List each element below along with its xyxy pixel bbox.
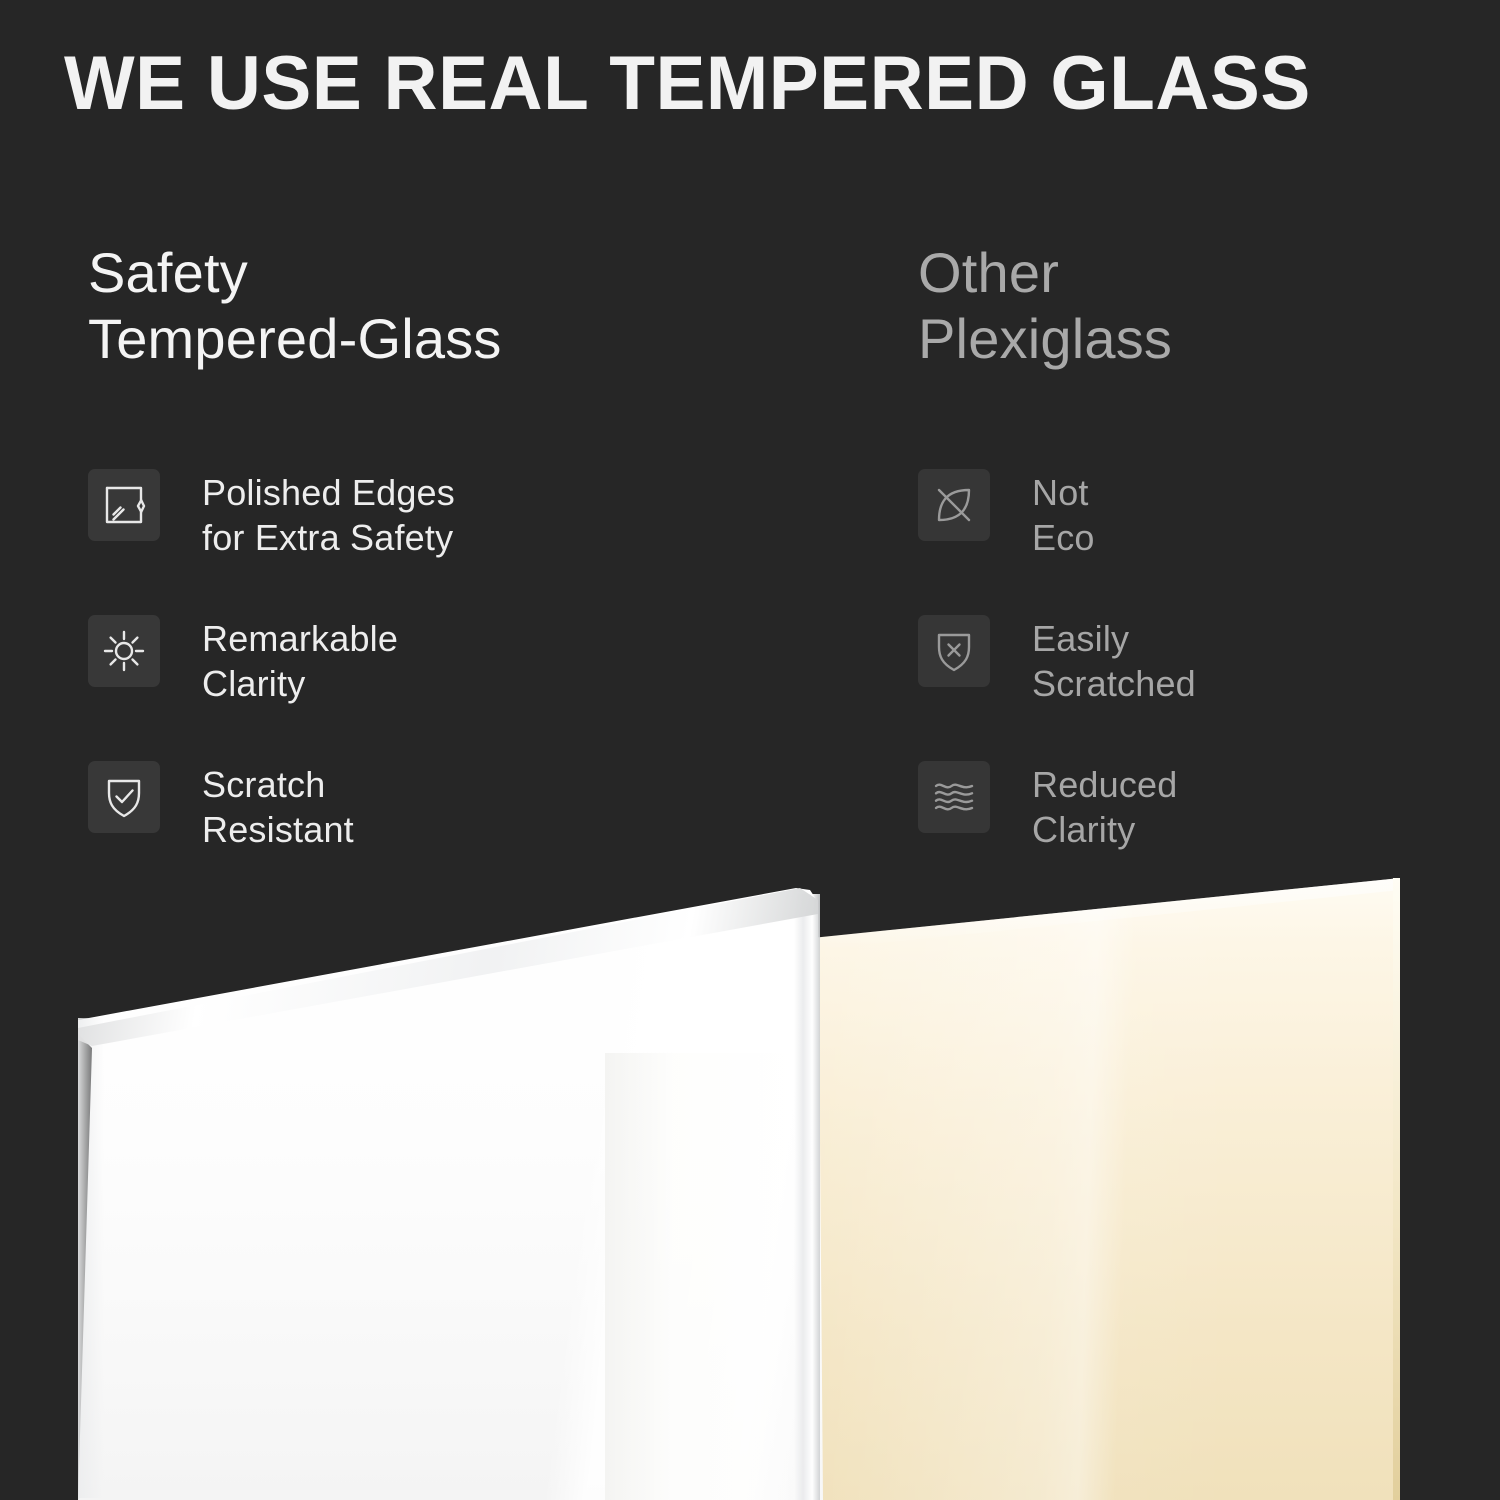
column-title-right: Other Plexiglass — [918, 240, 1478, 372]
column-safety-tempered-glass: Safety Tempered-Glass Polished Edges for… — [88, 240, 848, 904]
plexiglass-panel-surface — [812, 860, 1400, 1500]
plexiglass-panel-right-edge — [1393, 878, 1400, 1500]
feature-item: Polished Edges for Extra Safety — [88, 466, 848, 612]
feature-label: Reduced Clarity — [1032, 758, 1178, 852]
plexiglass-panel — [812, 860, 1400, 1500]
comparison-columns: Safety Tempered-Glass Polished Edges for… — [0, 240, 1500, 870]
feature-item: Remarkable Clarity — [88, 612, 848, 758]
tempered-glass-reflection — [605, 1053, 795, 1500]
feature-item: Not Eco — [918, 466, 1478, 612]
tempered-glass-panel — [78, 888, 823, 1500]
feature-item: Easily Scratched — [918, 612, 1478, 758]
tempered-glass-right-bevel — [794, 894, 820, 1500]
shield-x-icon — [918, 615, 990, 687]
tempered-glass-comparison-infographic: WE USE REAL TEMPERED GLASS Safety Temper… — [0, 0, 1500, 1500]
column-other-plexiglass: Other Plexiglass Not Eco — [918, 240, 1478, 904]
shield-check-icon — [88, 761, 160, 833]
sun-clarity-icon — [88, 615, 160, 687]
feature-label: Polished Edges for Extra Safety — [202, 466, 455, 560]
feature-list-right: Not Eco Easily Scratched — [918, 466, 1478, 904]
product-panel-images — [0, 860, 1500, 1500]
feature-label: Easily Scratched — [1032, 612, 1196, 706]
column-title-left: Safety Tempered-Glass — [88, 240, 848, 372]
tempered-glass-left-gleam — [78, 1018, 104, 1498]
feature-list-left: Polished Edges for Extra Safety Remarkab… — [88, 466, 848, 904]
polished-edge-sparkle-icon — [88, 469, 160, 541]
crossed-leaf-icon — [918, 469, 990, 541]
feature-label: Remarkable Clarity — [202, 612, 398, 706]
wavy-lines-icon — [918, 761, 990, 833]
feature-label: Not Eco — [1032, 466, 1095, 560]
page-title: WE USE REAL TEMPERED GLASS — [64, 38, 1443, 130]
feature-label: Scratch Resistant — [202, 758, 354, 852]
